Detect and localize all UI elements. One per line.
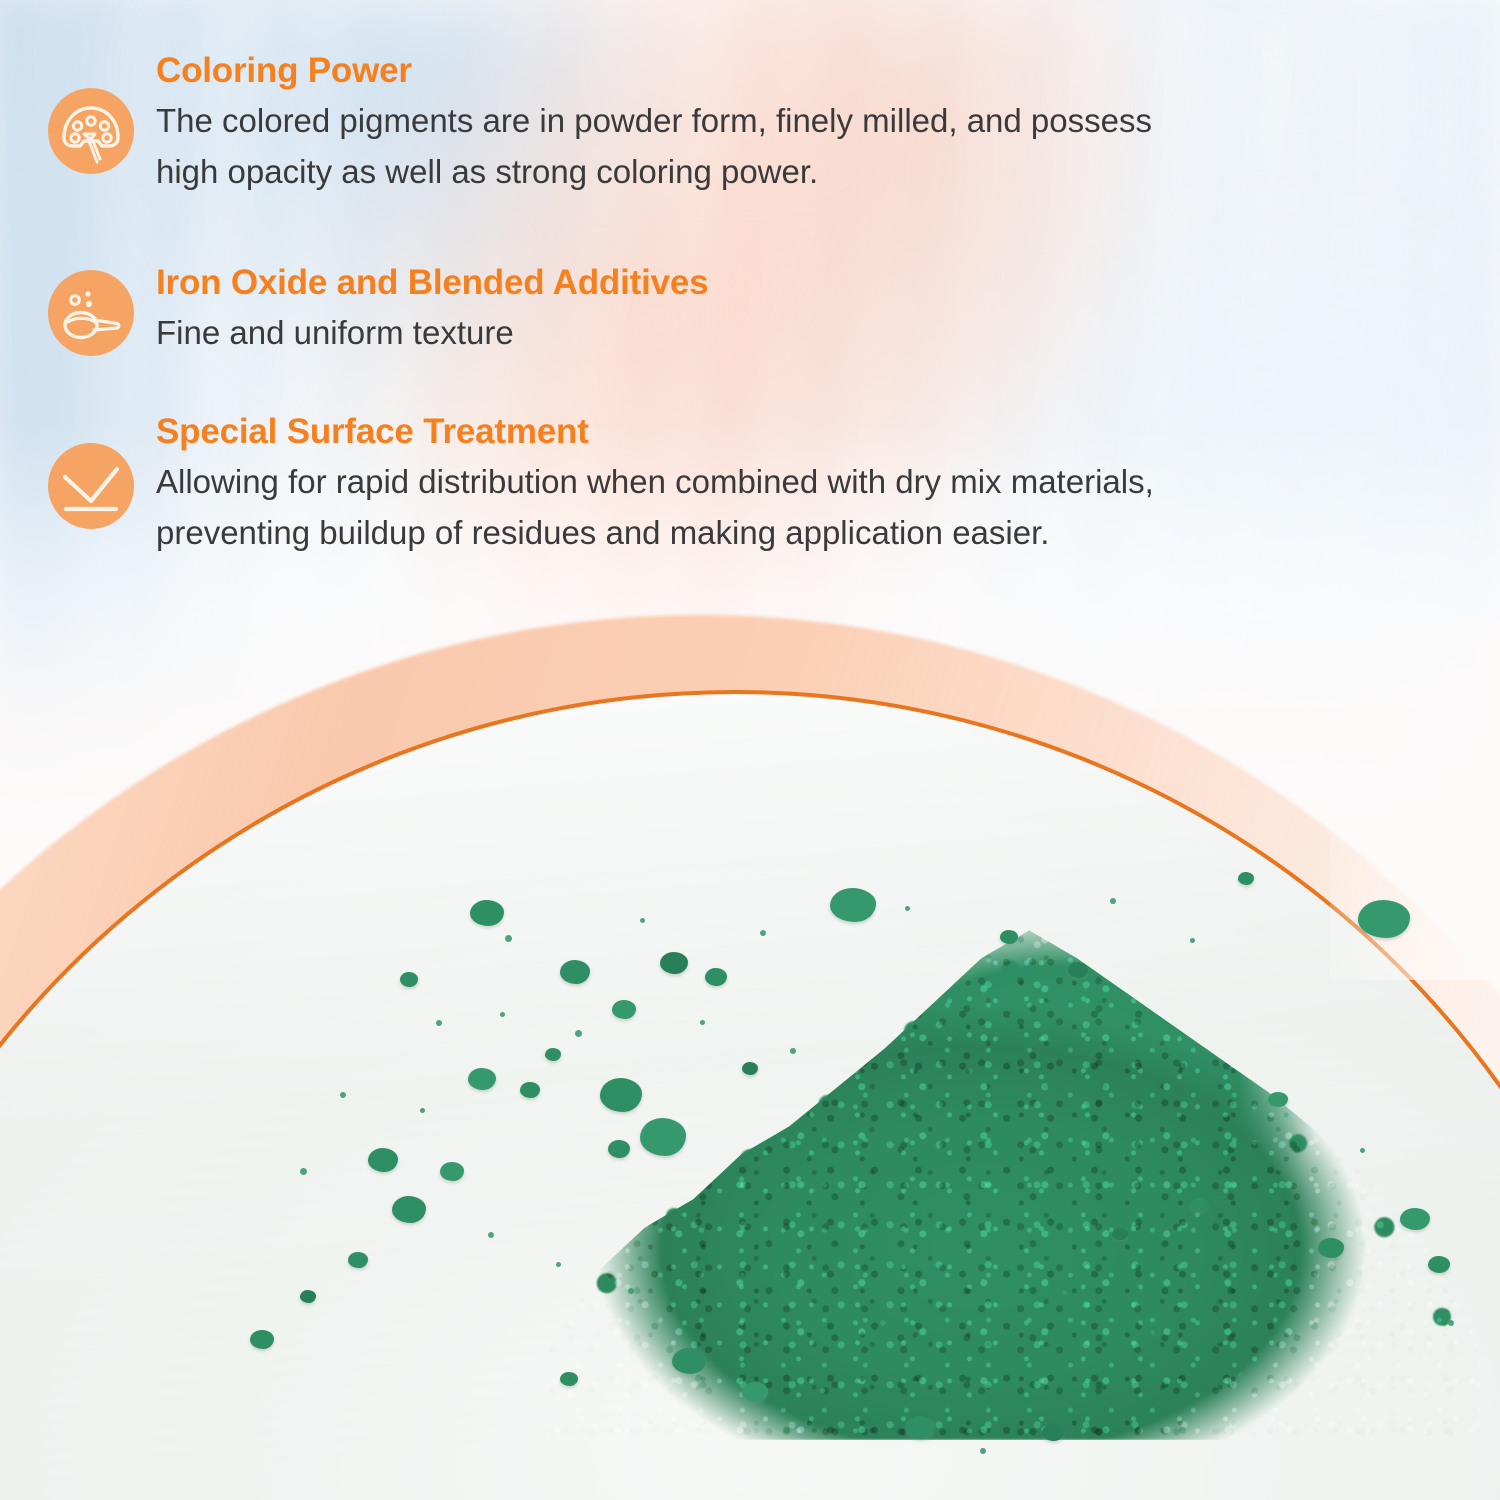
- feature-text: Special Surface Treatment Allowing for r…: [156, 411, 1154, 558]
- feature-title: Iron Oxide and Blended Additives: [156, 262, 708, 304]
- feature-item-iron-oxide: Iron Oxide and Blended Additives Fine an…: [48, 262, 708, 358]
- infographic-canvas: Coloring Power The colored pigments are …: [0, 0, 1500, 1500]
- feature-title: Coloring Power: [156, 50, 1152, 92]
- feature-text: Iron Oxide and Blended Additives Fine an…: [156, 262, 708, 358]
- paint-palette-icon: [48, 88, 134, 174]
- feature-body: The colored pigments are in powder form,…: [156, 95, 1152, 197]
- feature-title: Special Surface Treatment: [156, 411, 1154, 453]
- feature-text: Coloring Power The colored pigments are …: [156, 50, 1152, 197]
- feature-body: Allowing for rapid distribution when com…: [156, 456, 1154, 558]
- measuring-spoon-icon: [48, 270, 134, 356]
- feature-body-line: high opacity as well as strong coloring …: [156, 146, 1152, 197]
- feature-body: Fine and uniform texture: [156, 307, 708, 358]
- scattered-granules: [0, 0, 1500, 1500]
- pigment-powder-photo: [0, 0, 1500, 1500]
- feature-item-surface-treatment: Special Surface Treatment Allowing for r…: [48, 411, 1154, 558]
- feature-body-line: Allowing for rapid distribution when com…: [156, 463, 1154, 500]
- feature-body-line: preventing buildup of residues and makin…: [156, 507, 1154, 558]
- feature-body-line: Fine and uniform texture: [156, 314, 514, 351]
- feature-item-coloring-power: Coloring Power The colored pigments are …: [48, 50, 1152, 197]
- feature-body-line: The colored pigments are in powder form,…: [156, 102, 1152, 139]
- chevron-down-line-icon: [48, 443, 134, 529]
